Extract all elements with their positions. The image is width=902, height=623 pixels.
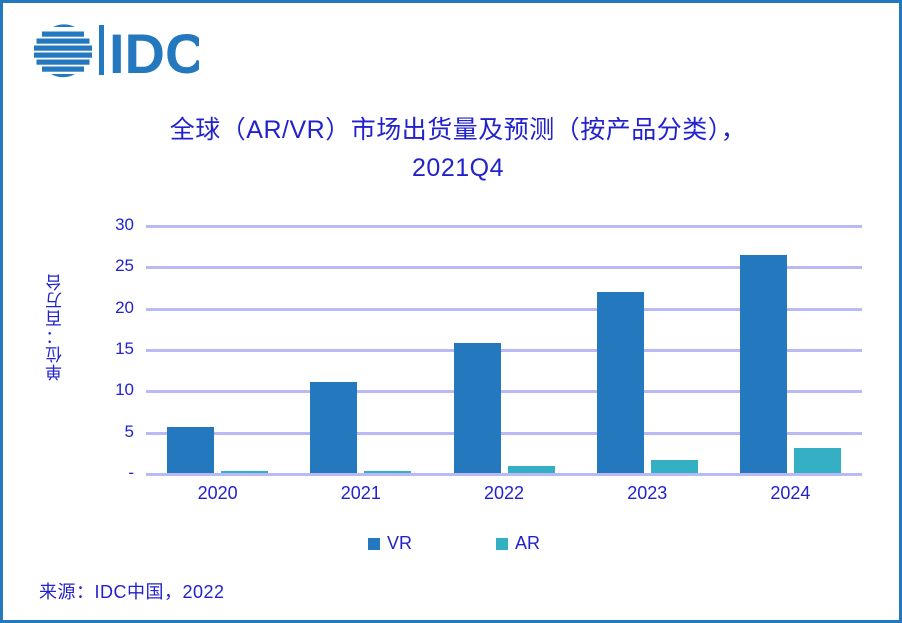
bar-group-2023: [576, 225, 719, 473]
x-axis-labels: 20202021202220232024: [146, 483, 862, 504]
legend-label-vr: VR: [387, 533, 412, 554]
x-tick-2022: 2022: [432, 483, 575, 504]
legend-swatch-icon-ar: [496, 538, 508, 550]
x-tick-2020: 2020: [146, 483, 289, 504]
bar-group-2020: [146, 225, 289, 473]
chart-legend: VRAR: [3, 533, 902, 554]
y-tick-0: -: [88, 463, 134, 483]
y-tick-10: 10: [88, 380, 134, 400]
idc-logo: IDC: [29, 19, 199, 81]
bar-vr-2022[interactable]: [454, 343, 501, 473]
page-title: 全球（AR/VR）市场出货量及预测（按产品分类）， 2021Q4: [93, 111, 823, 187]
y-tick-5: 5: [88, 422, 134, 442]
logo-wordmark: IDC: [109, 22, 199, 81]
source-note: 来源：IDC中国，2022: [39, 578, 225, 604]
y-tick-30: 30: [88, 215, 134, 235]
bar-ar-2021[interactable]: [364, 471, 411, 473]
globe-icon: [34, 24, 92, 77]
x-tick-2021: 2021: [289, 483, 432, 504]
bar-vr-2024[interactable]: [740, 255, 787, 473]
title-line-1: 全球（AR/VR）市场出货量及预测（按产品分类），: [93, 111, 823, 149]
y-tick-20: 20: [88, 298, 134, 318]
bar-vr-2021[interactable]: [310, 382, 357, 473]
chart-page: IDC 全球（AR/VR）市场出货量及预测（按产品分类）， 2021Q4 单位：…: [0, 0, 902, 623]
logo-bar-icon: [99, 25, 104, 75]
bar-group-2021: [289, 225, 432, 473]
legend-item-ar[interactable]: AR: [496, 533, 540, 554]
bar-ar-2020[interactable]: [221, 471, 268, 473]
bar-vr-2020[interactable]: [167, 427, 214, 473]
bar-ar-2022[interactable]: [508, 466, 555, 473]
legend-item-vr[interactable]: VR: [368, 533, 412, 554]
bar-ar-2023[interactable]: [651, 460, 698, 473]
bar-ar-2024[interactable]: [794, 448, 841, 473]
y-axis-label: 单位：百万台: [45, 273, 71, 381]
y-axis-ticks: 30 25 20 15 10 5 -: [88, 225, 134, 473]
bar-groups: [146, 225, 862, 473]
title-line-2: 2021Q4: [93, 149, 823, 187]
bar-group-2024: [719, 225, 862, 473]
x-tick-2023: 2023: [576, 483, 719, 504]
bar-group-2022: [432, 225, 575, 473]
y-tick-25: 25: [88, 256, 134, 276]
legend-swatch-icon-vr: [368, 538, 380, 550]
x-tick-2024: 2024: [719, 483, 862, 504]
idc-logo-icon: IDC: [29, 19, 199, 81]
bar-vr-2023[interactable]: [597, 292, 644, 473]
y-tick-15: 15: [88, 339, 134, 359]
legend-label-ar: AR: [515, 533, 540, 554]
axis-baseline: [146, 473, 862, 476]
